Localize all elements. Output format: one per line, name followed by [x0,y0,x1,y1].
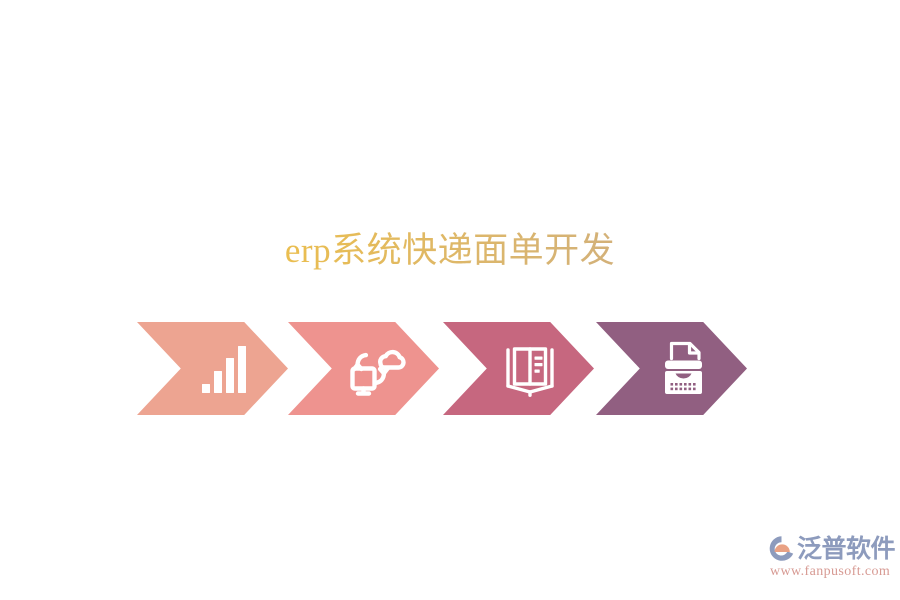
fanpu-circle-logo-icon [768,535,795,562]
chevron-step-3[interactable] [443,322,594,415]
logo-brand-text: 泛普软件 [797,535,895,562]
chevron-step-4[interactable] [596,322,747,415]
open-book-icon [497,336,563,402]
page-title: erp系统快递面单开发 [0,228,900,274]
chevron-process-row [137,322,749,415]
chevron-step-1[interactable] [137,322,288,415]
chevron-step-2[interactable] [288,322,439,415]
bar-chart-icon [191,336,257,402]
logo-row: 泛普软件 [768,533,895,563]
watermark-logo: 泛普软件 www.fanpusoft.com [768,533,896,581]
typewriter-printer-icon [650,336,716,402]
cloud-sync-monitor-icon [342,336,408,402]
logo-url-text: www.fanpusoft.com [770,563,890,580]
slide-canvas: erp系统快递面单开发 [0,0,900,600]
